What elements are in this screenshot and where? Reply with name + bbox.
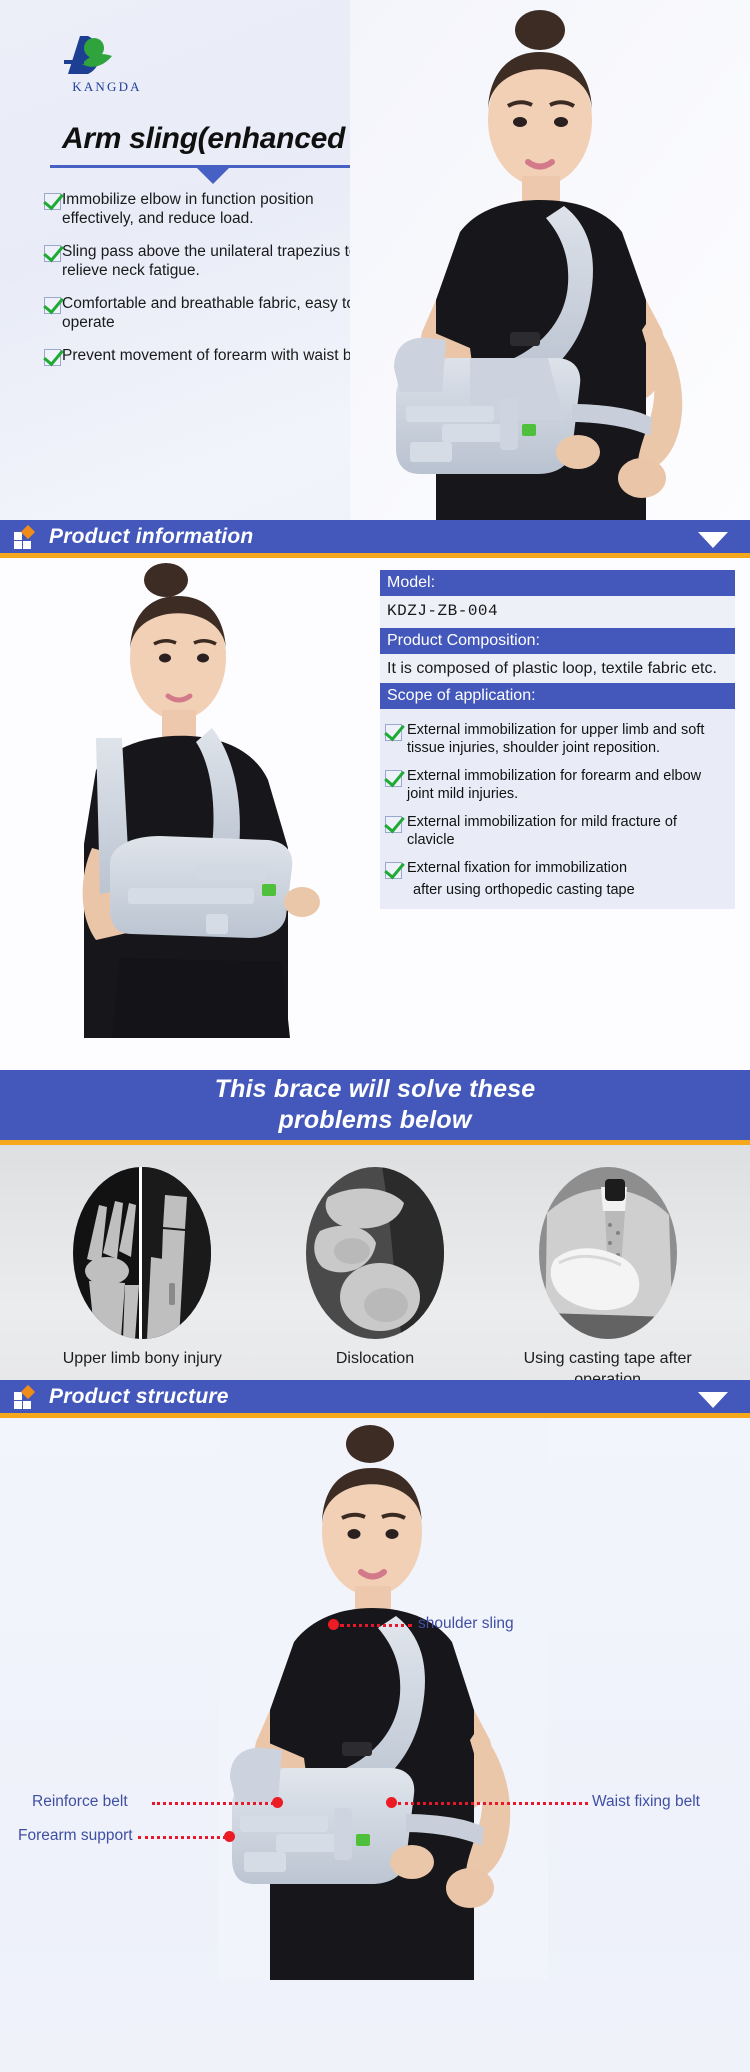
product-structure-section: shoulder sling Reinforce belt Waist fixi… (0, 1418, 750, 2072)
callout-marker-waist-fixing-belt (386, 1797, 397, 1808)
product-information-bar[interactable]: Product information (0, 520, 750, 558)
problem-cases-section: Upper limb bony injury (0, 1145, 750, 1380)
scope-item: External immobilization for mild fractur… (385, 813, 727, 849)
section-title: Product structure (49, 1385, 229, 1409)
hero-section: KANGDA Arm sling(enhanced type) Immobili… (0, 0, 750, 520)
scope-item-main: External fixation for immobilization (407, 860, 627, 876)
product-structure-bar[interactable]: Product structure (0, 1380, 750, 1418)
hero-product-photo (350, 0, 750, 520)
product-info-table: Model: KDZJ-ZB-004 Product Composition: … (380, 570, 735, 909)
problem-case: Using casting tape after operation (505, 1167, 710, 1390)
check-icon (44, 245, 61, 262)
problem-case-caption: Dislocation (272, 1348, 477, 1369)
callout-label-reinforce-belt: Reinforce belt (32, 1793, 128, 1811)
squares-diamond-icon (14, 526, 38, 548)
feature-item: Prevent movement of forearm with waist b… (44, 346, 374, 366)
table-row-label: Product Composition: (380, 628, 735, 654)
scope-item-sub: after using orthopedic casting tape (407, 881, 635, 899)
table-row-value-composition: It is composed of plastic loop, textile … (380, 654, 735, 683)
section-title: Product information (49, 525, 253, 549)
squares-diamond-icon (14, 1386, 38, 1408)
kangda-logo-icon (58, 30, 124, 78)
feature-text: Comfortable and breathable fabric, easy … (61, 294, 374, 332)
brand-logo[interactable]: KANGDA (46, 30, 166, 95)
problems-banner-line2: problems below (278, 1105, 471, 1136)
product-side-photo (0, 558, 378, 1038)
problem-case: Dislocation (272, 1167, 477, 1369)
check-icon (44, 297, 61, 314)
check-icon (44, 193, 61, 210)
callout-label-forearm-support: Forearm support (18, 1827, 133, 1845)
table-row-value-model: KDZJ-ZB-004 (380, 596, 735, 628)
feature-item: Comfortable and breathable fabric, easy … (44, 294, 374, 332)
chevron-down-icon[interactable] (698, 532, 728, 548)
problems-banner: This brace will solve these problems bel… (0, 1070, 750, 1145)
table-row-label-scope: Scope of application: (380, 683, 735, 709)
feature-list: Immobilize elbow in function position ef… (44, 190, 374, 380)
brand-name: KANGDA (48, 79, 166, 95)
scope-item: External immobilization for forearm and … (385, 767, 727, 803)
problems-banner-line1: This brace will solve these (215, 1074, 536, 1105)
joint-dislocation-xray-image (306, 1167, 444, 1339)
wrist-forearm-xray-image (73, 1167, 211, 1339)
feature-item: Immobilize elbow in function position ef… (44, 190, 374, 228)
check-icon (385, 724, 402, 741)
scope-item-text: External immobilization for upper limb a… (402, 721, 727, 757)
callout-line-reinforce-belt (152, 1802, 274, 1805)
structure-product-photo (218, 1418, 548, 1980)
scope-item-text: External immobilization for forearm and … (402, 767, 727, 803)
problem-case: Upper limb bony injury (40, 1167, 245, 1369)
callout-line-forearm-support (138, 1836, 226, 1839)
problem-case-caption: Upper limb bony injury (40, 1348, 245, 1369)
feature-text: Prevent movement of forearm with waist b… (61, 346, 368, 365)
check-icon (385, 816, 402, 833)
man-with-arm-cast-photo (539, 1167, 677, 1339)
scope-list: External immobilization for upper limb a… (380, 709, 735, 909)
scope-item-text: External fixation for immobilization aft… (402, 859, 635, 899)
callout-line-waist-fixing-belt (398, 1802, 588, 1805)
callout-marker-reinforce-belt (272, 1797, 283, 1808)
down-triangle-icon (196, 167, 230, 184)
product-information-section: Model: KDZJ-ZB-004 Product Composition: … (0, 558, 750, 1070)
callout-label-waist-fixing-belt: Waist fixing belt (592, 1793, 700, 1811)
callout-line-shoulder-sling (340, 1624, 412, 1627)
feature-text: Immobilize elbow in function position ef… (61, 190, 374, 228)
product-detail-page: KANGDA Arm sling(enhanced type) Immobili… (0, 0, 750, 2072)
feature-text: Sling pass above the unilateral trapeziu… (61, 242, 374, 280)
callout-marker-shoulder-sling (328, 1619, 339, 1630)
scope-item-text: External immobilization for mild fractur… (402, 813, 727, 849)
chevron-down-icon[interactable] (698, 1392, 728, 1408)
callout-label-shoulder-sling: shoulder sling (418, 1615, 514, 1633)
check-icon (385, 770, 402, 787)
problem-cases-row: Upper limb bony injury (0, 1167, 750, 1390)
callout-marker-forearm-support (224, 1831, 235, 1842)
feature-item: Sling pass above the unilateral trapeziu… (44, 242, 374, 280)
scope-item: External immobilization for upper limb a… (385, 721, 727, 757)
check-icon (385, 862, 402, 879)
check-icon (44, 349, 61, 366)
scope-item: External fixation for immobilization aft… (385, 859, 727, 899)
table-row-label: Model: (380, 570, 735, 596)
